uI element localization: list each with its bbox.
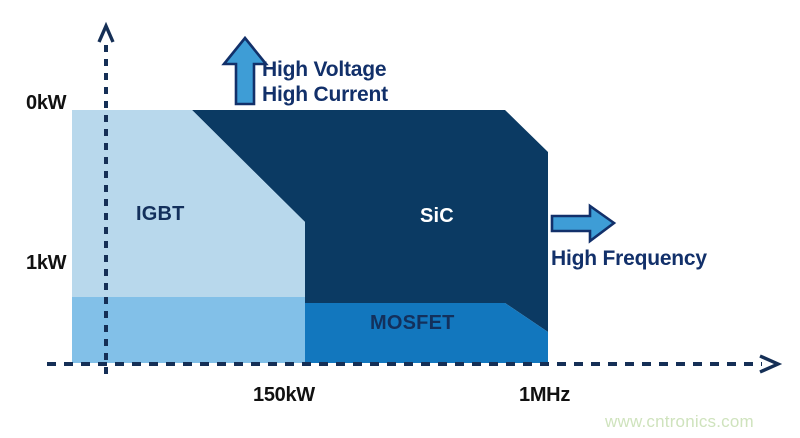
y-axis-arrowhead-icon (99, 26, 113, 42)
region-label-igbt: IGBT (136, 203, 185, 226)
annotation-high-frequency: High Frequency (551, 246, 707, 271)
right-arrow-icon (552, 206, 614, 241)
x-axis-tick-150kw: 150kW (253, 384, 315, 407)
annotation-high-voltage-current: High Voltage High Current (262, 57, 388, 107)
annotation-line-high-current: High Current (262, 82, 388, 107)
region-label-mosfet: MOSFET (370, 312, 455, 335)
y-axis-tick-1kw: 1kW (26, 252, 66, 275)
x-axis-arrowhead-icon (760, 356, 778, 372)
watermark-text: www.cntronics.com (605, 412, 754, 432)
diagram-canvas: 0kW 1kW 150kW 1MHz IGBT SiC MOSFET High … (0, 0, 800, 438)
up-arrow-icon (224, 38, 266, 104)
diagram-svg (0, 0, 800, 438)
x-axis-tick-1mhz: 1MHz (519, 384, 570, 407)
region-label-sic: SiC (420, 205, 454, 228)
annotation-line-high-frequency: High Frequency (551, 246, 707, 271)
y-axis-tick-0kw: 0kW (26, 92, 66, 115)
annotation-line-high-voltage: High Voltage (262, 57, 388, 82)
